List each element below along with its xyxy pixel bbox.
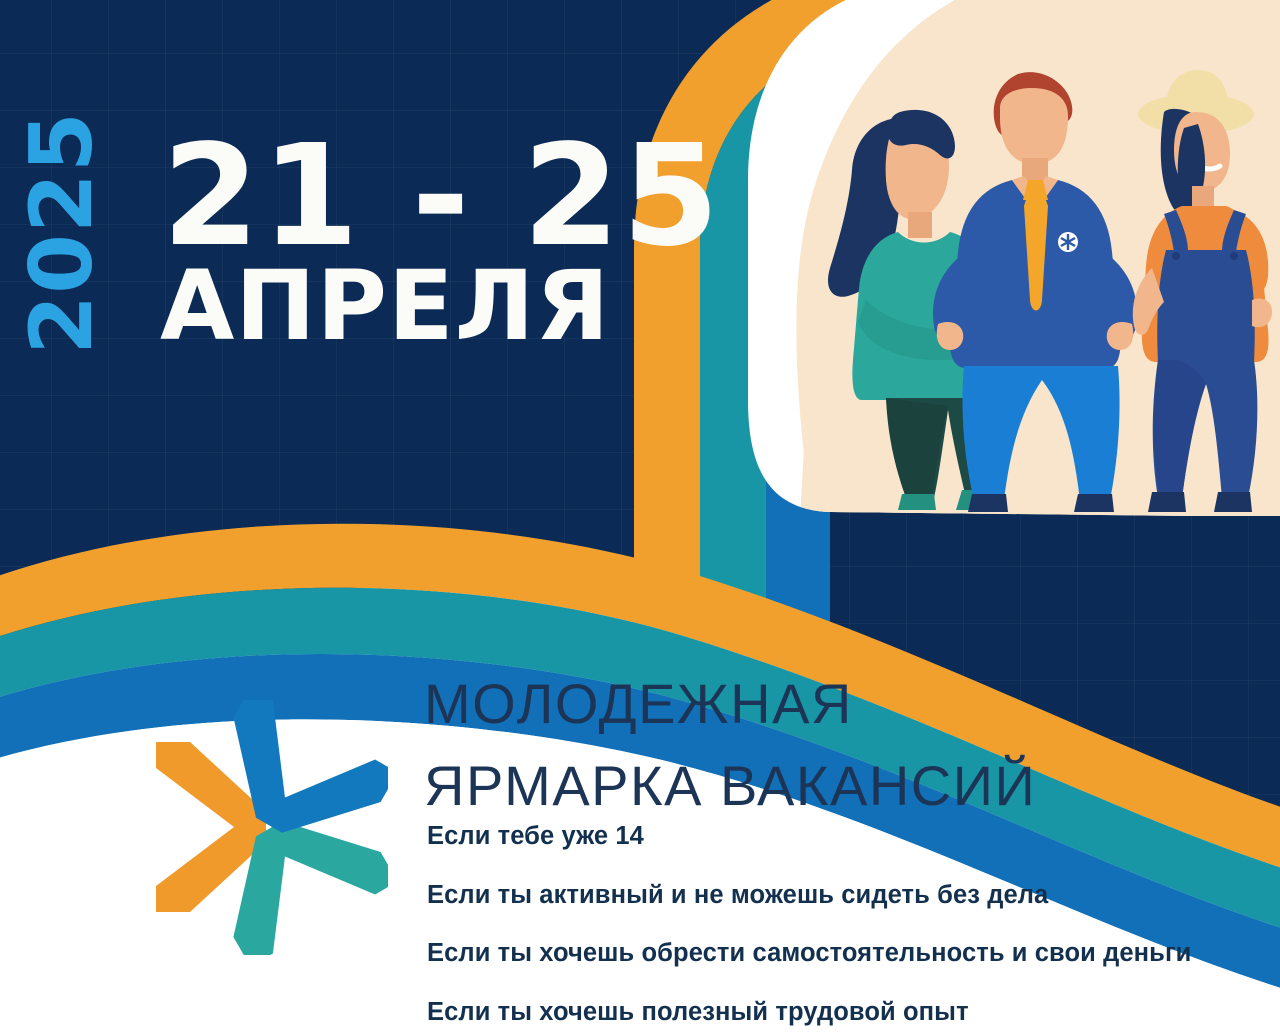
rabota-rossii-logo [148,700,388,955]
illustration-panel [740,0,1280,540]
woman2-neck [1192,186,1214,208]
man-shoe-left [968,494,1008,512]
bullet-item-2: Если ты активный и не можешь сидеть без … [427,883,1267,909]
bullet-item-3: Если ты хочешь обрести самостоятельность… [427,941,1267,967]
woman1-neck [908,212,932,238]
man-shoe-right [1074,494,1114,512]
bullet-list: Если тебе уже 14 Если ты активный и не м… [427,824,1267,1036]
bullet-item-1: Если тебе уже 14 [427,824,1267,850]
woman2-overalls-bib [1157,250,1254,362]
headline: МОЛОДЕЖНАЯ ЯРМАРКА ВАКАНСИЙ [424,663,1036,827]
woman2-shoe-left [1148,492,1186,512]
logo-svg [148,700,388,955]
headline-line-2: ЯРМАРКА ВАКАНСИЙ [424,745,1036,827]
year-label: 2025 [19,108,105,358]
man-badge-icon [1058,232,1078,252]
bullet-item-4: Если ты хочешь полезный трудовой опыт [427,1000,1267,1026]
woman2-shoe-right [1214,492,1252,512]
woman1-shoe-left [898,494,936,510]
headline-line-1: МОЛОДЕЖНАЯ [424,663,1036,745]
man-face [1000,88,1068,164]
month-label: АПРЕЛЯ [160,258,610,354]
woman2-button-right [1230,252,1238,260]
date-range-label: 21 - 25 [162,128,721,265]
poster-root: 2025 21 - 25 АПРЕЛЯ МОЛОДЕЖНАЯ ЯРМАРКА В… [0,0,1280,1036]
woman2-button-left [1172,252,1180,260]
